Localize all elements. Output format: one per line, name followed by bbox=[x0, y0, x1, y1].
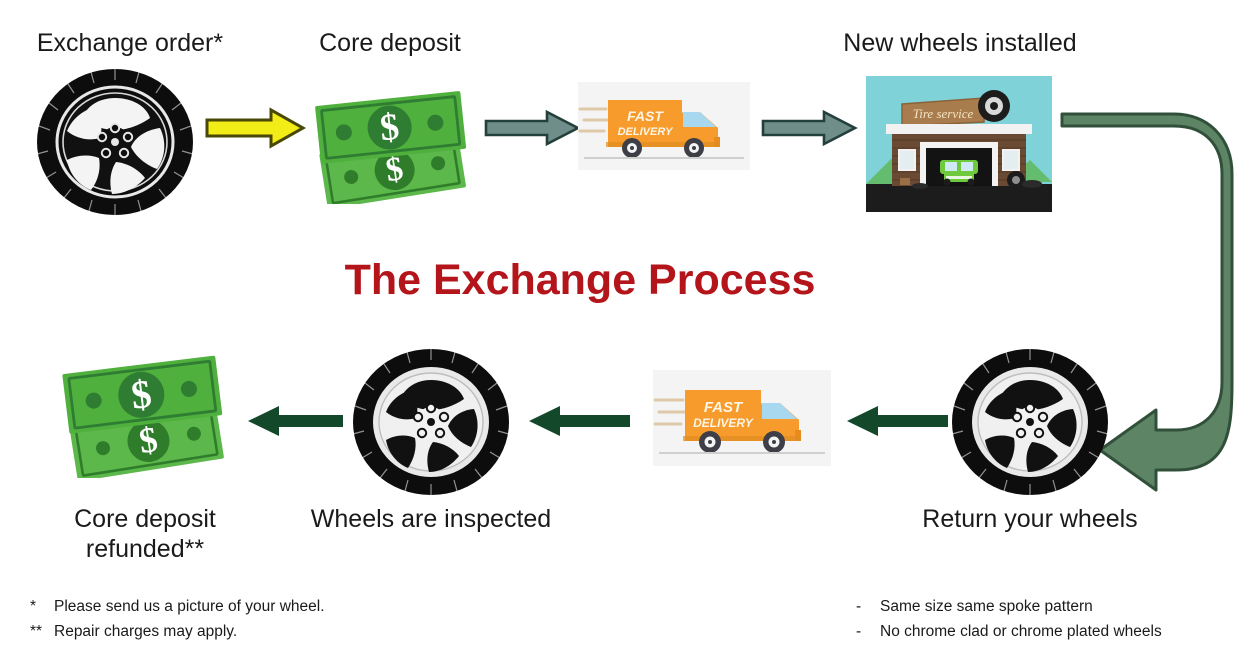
money-icon: $ $ bbox=[310, 86, 480, 204]
arrow-shipping-to-install-icon bbox=[762, 110, 857, 146]
arrow-return-to-shipping-back-icon bbox=[845, 404, 949, 438]
footnote-text: Please send us a picture of your wheel. bbox=[54, 594, 325, 619]
delivery-truck-icon: FAST DELIVERY bbox=[653, 370, 831, 466]
footnote-item: * Please send us a picture of your wheel… bbox=[30, 594, 450, 619]
truck-text-line2: DELIVERY bbox=[618, 126, 674, 138]
exchange-process-diagram: Exchange order* Core deposit New wheels … bbox=[0, 0, 1250, 666]
footnote-item: ** Repair charges may apply. bbox=[30, 619, 450, 644]
arrow-deposit-to-shipping-icon bbox=[485, 110, 580, 146]
truck-text-line1: FAST bbox=[704, 399, 744, 416]
footnote-mark: - bbox=[856, 594, 880, 619]
wheel-icon bbox=[352, 348, 510, 496]
shop-sign-text: Tire service bbox=[913, 106, 974, 121]
footnote-text: No chrome clad or chrome plated wheels bbox=[880, 619, 1162, 644]
step-label-new-wheels-installed: New wheels installed bbox=[800, 28, 1120, 59]
footnote-mark: - bbox=[856, 619, 880, 644]
step-label-return-your-wheels: Return your wheels bbox=[890, 504, 1170, 535]
page-title: The Exchange Process bbox=[0, 256, 1160, 305]
wheel-icon bbox=[951, 348, 1109, 496]
arrow-shipping-back-to-inspection-icon bbox=[527, 404, 631, 438]
step-label-core-deposit-refunded-line1: Core deposit bbox=[10, 504, 280, 535]
step-label-exchange-order: Exchange order* bbox=[0, 28, 260, 59]
footnote-item: - No chrome clad or chrome plated wheels bbox=[856, 619, 1250, 644]
arrow-inspection-to-refund-icon bbox=[246, 404, 344, 438]
delivery-truck-icon: FAST DELIVERY bbox=[578, 82, 750, 170]
footnotes-right: - Same size same spoke pattern - No chro… bbox=[856, 594, 1250, 644]
step-label-core-deposit: Core deposit bbox=[270, 28, 510, 59]
truck-text-line2: DELIVERY bbox=[693, 416, 754, 430]
truck-text-line1: FAST bbox=[627, 108, 664, 124]
step-label-wheels-are-inspected: Wheels are inspected bbox=[296, 504, 566, 535]
money-icon: $ $ bbox=[58, 352, 238, 478]
footnote-item: - Same size same spoke pattern bbox=[856, 594, 1250, 619]
step-label-core-deposit-refunded-line2: refunded** bbox=[10, 534, 280, 565]
footnotes-left: * Please send us a picture of your wheel… bbox=[30, 594, 450, 644]
footnote-mark: ** bbox=[30, 619, 54, 644]
footnote-text: Same size same spoke pattern bbox=[880, 594, 1093, 619]
arrow-order-to-deposit-icon bbox=[205, 108, 305, 148]
wheel-icon bbox=[36, 68, 194, 216]
footnote-mark: * bbox=[30, 594, 54, 619]
tire-service-shop-icon: Tire service bbox=[866, 76, 1052, 212]
footnote-text: Repair charges may apply. bbox=[54, 619, 237, 644]
